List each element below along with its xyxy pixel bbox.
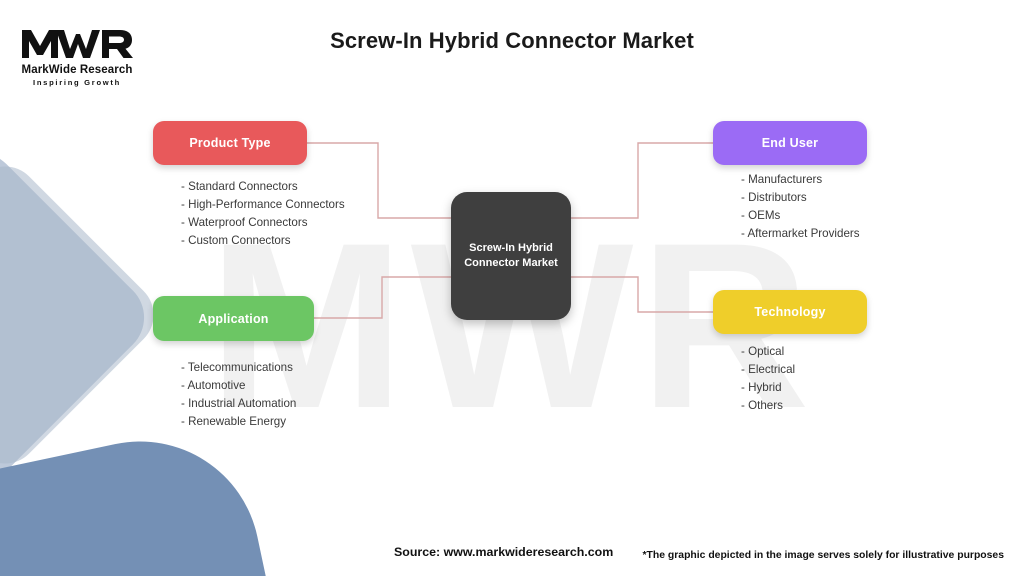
- branch-node-technology[interactable]: Technology: [713, 290, 867, 334]
- source-attribution: Source: www.markwideresearch.com: [394, 545, 613, 559]
- list-item: - Electrical: [741, 361, 795, 379]
- list-item: - Distributors: [741, 189, 860, 207]
- list-item: - Hybrid: [741, 379, 795, 397]
- list-item: - Standard Connectors: [181, 178, 345, 196]
- infographic-canvas: MWR MarkWide Research Inspiring Growth S…: [0, 0, 1024, 576]
- disclaimer-text: *The graphic depicted in the image serve…: [643, 550, 1004, 561]
- list-item: - High-Performance Connectors: [181, 196, 345, 214]
- branch-node-application[interactable]: Application: [153, 296, 314, 341]
- list-item: - Telecommunications: [181, 359, 296, 377]
- branch-list-technology: - Optical - Electrical - Hybrid - Others: [741, 343, 795, 414]
- list-item: - Manufacturers: [741, 171, 860, 189]
- hub-label-line2: Connector Market: [464, 257, 558, 269]
- branch-title-application: Application: [198, 312, 268, 326]
- list-item: - Custom Connectors: [181, 232, 345, 250]
- branch-list-end-user: - Manufacturers - Distributors - OEMs - …: [741, 171, 860, 242]
- branch-node-end-user[interactable]: End User: [713, 121, 867, 165]
- list-item: - Optical: [741, 343, 795, 361]
- branch-title-technology: Technology: [754, 305, 825, 319]
- list-item: - Waterproof Connectors: [181, 214, 345, 232]
- branch-title-end-user: End User: [762, 136, 818, 150]
- branch-node-product-type[interactable]: Product Type: [153, 121, 307, 165]
- list-item: - Renewable Energy: [181, 413, 296, 431]
- branch-title-product-type: Product Type: [189, 136, 270, 150]
- list-item: - Others: [741, 397, 795, 415]
- branch-list-product-type: - Standard Connectors - High-Performance…: [181, 178, 345, 249]
- list-item: - Industrial Automation: [181, 395, 296, 413]
- hub-label-line1: Screw-In Hybrid: [469, 242, 553, 254]
- list-item: - Aftermarket Providers: [741, 225, 860, 243]
- list-item: - OEMs: [741, 207, 860, 225]
- hub-node-market[interactable]: Screw-In Hybrid Connector Market: [451, 192, 571, 320]
- hub-label: Screw-In Hybrid Connector Market: [464, 241, 558, 271]
- branch-list-application: - Telecommunications - Automotive - Indu…: [181, 359, 296, 430]
- list-item: - Automotive: [181, 377, 296, 395]
